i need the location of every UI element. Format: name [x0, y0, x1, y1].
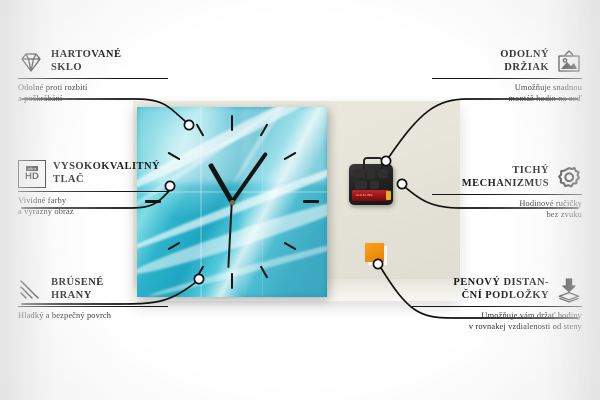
callout-description: Odolné proti rozbití — [18, 83, 168, 94]
ultra-hd-large-label: HD — [25, 172, 39, 182]
hour-tick — [231, 115, 233, 131]
foam-spacer-icon — [556, 277, 582, 303]
callout-description-line2: a výrazný obraz — [18, 207, 168, 218]
callout-title-line2: MECHANIZMUS — [462, 178, 549, 191]
callout-title-line2: DRŽIAK — [500, 62, 549, 75]
callout-divider — [18, 191, 168, 192]
callout-description: Umožňuje snadnou — [432, 83, 582, 94]
callout-title-line2: HRANY — [51, 290, 104, 303]
callout-description-line2: montáž hodin na zeď — [432, 94, 582, 105]
clock-mechanism: ALKALINE — [349, 164, 393, 205]
hour-tick — [231, 273, 233, 289]
callout-description: Hladký a bezpečný povrch — [18, 311, 168, 322]
product-photo: ALKALINE — [133, 101, 460, 301]
battery-label: ALKALINE — [356, 193, 373, 197]
callout-divider — [432, 78, 582, 79]
callout-durable-hanger: ODOLNÝ DRŽIAK Umožňuje snadnou montáž ho… — [432, 49, 582, 104]
callout-description: Vividné farby — [18, 196, 168, 207]
callout-foam-spacers: PENOVÝ DISTAN- ČNÍ PODLOŽKY Umožňuje vám… — [412, 277, 582, 332]
hour-tick — [303, 200, 319, 203]
callout-title: TICHÝ — [462, 165, 549, 178]
callout-title: PENOVÝ DISTAN- — [453, 277, 549, 290]
callout-silent-movement: TICHÝ MECHANIZMUS Hodinové ručičky bez z… — [432, 165, 582, 220]
callout-description: Hodinové ručičky — [432, 199, 582, 210]
mechanism-detail — [367, 168, 375, 179]
callout-title: BRÚSENÉ — [51, 277, 104, 290]
mechanism-detail — [378, 169, 388, 178]
foam-spacer-pad — [365, 243, 384, 262]
callout-divider — [18, 78, 168, 79]
aa-battery: ALKALINE — [352, 190, 390, 201]
hands-center-pin — [230, 200, 235, 205]
hour-tick — [167, 242, 180, 251]
callout-title: VYSOKOKVALITNÝ — [53, 161, 160, 174]
ultra-hd-icon: ultra HD — [18, 160, 46, 188]
mechanism-detail — [354, 169, 364, 178]
picture-hanger-icon — [556, 49, 582, 75]
callout-hd-print: ultra HD VYSOKOKVALITNÝ TLAČ Vividné far… — [18, 160, 168, 217]
callout-divider — [412, 306, 582, 307]
battery-terminal — [386, 191, 391, 200]
callout-title-line2: SKLO — [51, 62, 121, 75]
diamond-icon — [18, 49, 44, 75]
callout-tempered-glass: HARTOVANÉ SKLO Odolné proti rozbití a po… — [18, 49, 168, 104]
callout-description: Umožňuje vám držať hodiny — [412, 311, 582, 322]
beveled-edges-icon — [18, 277, 44, 303]
callout-description-line2: a poškrábání — [18, 94, 168, 105]
callout-title: HARTOVANÉ — [51, 49, 121, 62]
callout-description-line2: bez zvuku — [432, 210, 582, 221]
callout-description-line2: v rovnakej vzdialenosti od steny — [412, 322, 582, 333]
callout-title-line2: TLAČ — [53, 174, 160, 187]
gear-icon — [556, 165, 582, 191]
callout-title-line2: ČNÍ PODLOŽKY — [453, 290, 549, 303]
mechanism-detail — [355, 181, 367, 189]
infographic-canvas: ALKALINE — [0, 0, 600, 400]
callout-divider — [432, 194, 582, 195]
callout-divider — [18, 306, 168, 307]
callout-title: ODOLNÝ — [500, 49, 549, 62]
mechanism-detail — [370, 181, 379, 189]
callout-polished-edges: BRÚSENÉ HRANY Hladký a bezpečný povrch — [18, 277, 168, 322]
